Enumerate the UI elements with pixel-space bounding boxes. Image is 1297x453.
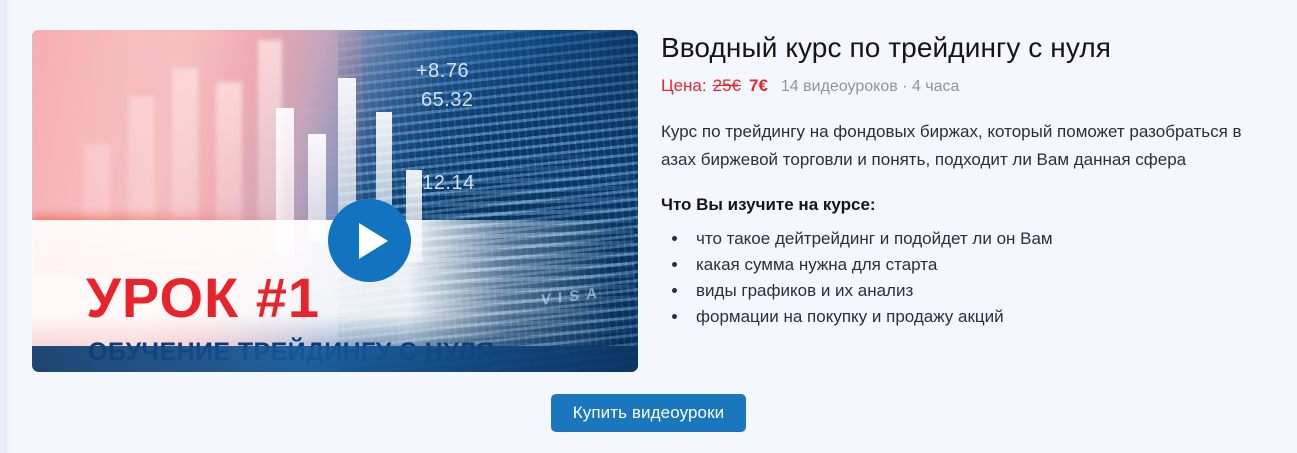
course-info: Вводный курс по трейдингу с нуля Цена: 2… [661, 30, 1281, 332]
list-item: формации на покупку и продажу акций [689, 305, 1281, 329]
chart-value-label: +8.76 [416, 60, 469, 83]
list-item: что такое дейтрейдинг и подойдет ли он В… [689, 227, 1281, 251]
cta-container: Купить видеоуроки [0, 394, 1297, 432]
play-triangle-icon [359, 223, 388, 259]
page-title: Вводный курс по трейдингу с нуля [661, 30, 1281, 65]
play-icon[interactable] [328, 199, 411, 282]
course-video-thumbnail[interactable]: VISA +8.76 65.32 -12.14 УРОК #1 ОБУЧЕНИЕ… [32, 30, 638, 372]
thumbnail-lesson-title: УРОК #1 [86, 270, 320, 326]
list-item: виды графиков и их анализ [689, 279, 1281, 303]
course-card: VISA +8.76 65.32 -12.14 УРОК #1 ОБУЧЕНИЕ… [0, 0, 1297, 453]
price-new: 7€ [749, 76, 768, 96]
price-label: Цена: [661, 76, 707, 96]
thumbnail-bottom-strip [32, 346, 638, 372]
learn-heading: Что Вы изучите на курсе: [661, 195, 1281, 215]
list-item: какая сумма нужна для старта [689, 253, 1281, 277]
course-meta: 14 видеоуроков · 4 часа [781, 78, 960, 96]
learn-list: что такое дейтрейдинг и подойдет ли он В… [661, 227, 1281, 330]
course-description: Курс по трейдингу на фондовых биржах, ко… [661, 118, 1271, 173]
chart-value-label: 65.32 [421, 89, 474, 112]
price-old: 25€ [713, 76, 741, 96]
price-row: Цена: 25€ 7€ 14 видеоуроков · 4 часа [661, 76, 1281, 96]
buy-videolessons-button[interactable]: Купить видеоуроки [551, 394, 747, 432]
chart-value-label: -12.14 [415, 172, 475, 195]
